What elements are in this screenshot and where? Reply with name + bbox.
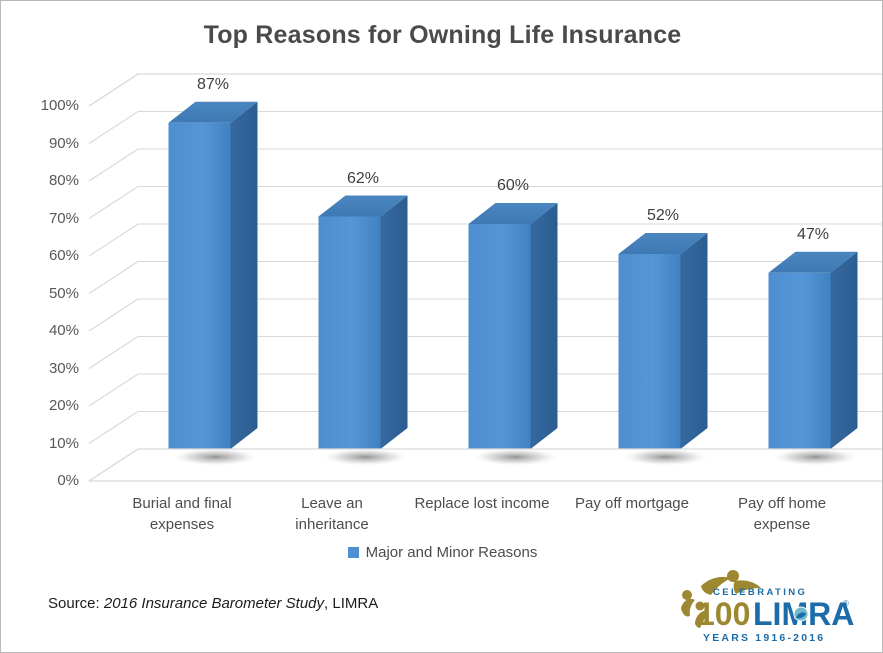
gridline-connector (89, 74, 138, 106)
x-axis-category-line: Leave an (257, 493, 407, 514)
y-axis-tick-label: 20% (19, 397, 79, 414)
x-axis-category-label: Pay off homeexpense (707, 493, 857, 535)
logo-registered-mark: ® (843, 599, 849, 608)
chart-canvas: Top Reasons for Owning Life Insurance (0, 0, 883, 653)
bar-front-face (769, 273, 831, 449)
bar-shadow (171, 448, 260, 466)
bar-side-face (381, 196, 408, 450)
y-axis-tick-label: 30% (19, 360, 79, 377)
y-axis-tick-label: 10% (19, 435, 79, 452)
bar-data-label: 52% (623, 207, 703, 225)
y-axis-tick-label: 50% (19, 285, 79, 302)
bar-front-face (319, 217, 381, 450)
y-axis-tick-label: 90% (19, 135, 79, 152)
logo-100-text: 100 (697, 596, 750, 632)
y-axis-tick-label: 70% (19, 210, 79, 227)
x-axis-category-label: Burial and finalexpenses (107, 493, 257, 535)
x-axis-category-line: Pay off mortgage (557, 493, 707, 514)
bar-shadows-group (171, 448, 860, 466)
bar-shadow (621, 448, 710, 466)
bar-shadow (321, 448, 410, 466)
bar-data-label: 60% (473, 177, 553, 195)
gridline-connector (89, 187, 138, 219)
bar-data-label: 47% (773, 226, 853, 244)
chart-legend: Major and Minor Reasons (1, 544, 883, 561)
legend-swatch-icon (348, 547, 359, 558)
gridline-connector (89, 374, 138, 406)
x-axis-category-label: Pay off mortgage (557, 493, 707, 514)
bar-shadow (471, 448, 560, 466)
bar-front-face (619, 254, 681, 449)
bar-data-label: 62% (323, 170, 403, 188)
source-prefix: Source: (48, 595, 104, 612)
bar-data-label: 87% (173, 76, 253, 94)
gridline-connector (89, 337, 138, 369)
x-axis-category-label: Leave aninheritance (257, 493, 407, 535)
gridline-connector (89, 112, 138, 144)
bar-side-face (231, 102, 258, 449)
x-axis-category-label: Replace lost income (407, 493, 557, 514)
y-axis-tick-label: 100% (19, 97, 79, 114)
x-axis-category-line: expenses (107, 514, 257, 535)
y-axis-tick-label: 60% (19, 247, 79, 264)
bar-side-face (681, 233, 708, 449)
x-axis-category-line: Burial and final (107, 493, 257, 514)
limra-100-logo: CELEBRATING 100 LIMRA ® YEARS 1916-2016 (673, 562, 869, 646)
bar-front-face (469, 224, 531, 449)
y-axis-tick-label: 40% (19, 322, 79, 339)
bar-front-face (169, 123, 231, 449)
gridline-connector (89, 412, 138, 444)
gridline-connector (89, 262, 138, 294)
legend-label: Major and Minor Reasons (366, 544, 538, 561)
logo-years-text: YEARS 1916-2016 (703, 632, 825, 644)
y-axis-tick-label: 0% (19, 472, 79, 489)
gridline-connector (89, 299, 138, 331)
source-study-title: 2016 Insurance Barometer Study (104, 595, 324, 612)
x-axis-category-line: inheritance (257, 514, 407, 535)
source-note: Source: 2016 Insurance Barometer Study, … (48, 595, 378, 612)
x-axis-category-line: expense (707, 514, 857, 535)
bar-side-face (831, 252, 858, 449)
x-axis-category-line: Pay off home (707, 493, 857, 514)
x-axis-category-line: Replace lost income (407, 493, 557, 514)
gridline-connector (89, 224, 138, 256)
bar-shadow (771, 448, 860, 466)
bar-side-face (531, 203, 558, 449)
source-suffix: , LIMRA (324, 595, 378, 612)
bars-group (169, 102, 858, 449)
gridline-connector (89, 149, 138, 181)
y-axis-tick-label: 80% (19, 172, 79, 189)
